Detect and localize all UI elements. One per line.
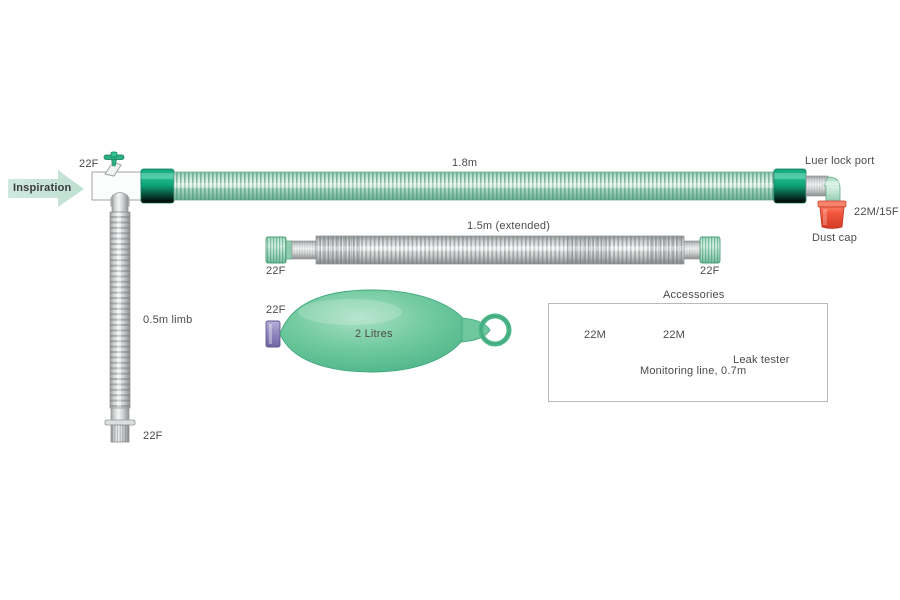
limb-0-5m (105, 193, 135, 443)
monitoring-line-label: Monitoring line, 0.7m (640, 365, 746, 377)
main-tube-length-label: 1.8m (452, 157, 477, 169)
bag-neck-size-label: 22F (266, 304, 286, 316)
extendable-tube-left-size-label: 22F (266, 265, 286, 277)
diagram-canvas: Inspiration 22F 1.8m Luer lock port 22M/… (0, 0, 900, 600)
monitoring-port-cap (104, 152, 124, 166)
accessories-box (548, 303, 828, 402)
connector-right-size-label: 22M (663, 329, 685, 341)
dust-cap-size-label: 22M/15F (854, 206, 899, 218)
ypiece-port-size-label: 22F (79, 158, 99, 170)
dust-cap (818, 201, 846, 229)
luer-lock-port-label: Luer lock port (805, 155, 874, 167)
extendable-tube-1-5m (266, 236, 720, 264)
accessories-title: Accessories (663, 289, 725, 301)
circuit-illustration (0, 0, 900, 600)
inspiration-label: Inspiration (13, 182, 71, 194)
limb-end-size-label: 22F (143, 430, 163, 442)
luer-lock-connector (806, 176, 828, 196)
main-tube-left-cuff (141, 169, 174, 203)
dust-cap-label: Dust cap (812, 232, 857, 244)
extendable-tube-right-size-label: 22F (700, 265, 720, 277)
main-tube-right-cuff (774, 169, 806, 203)
main-tube-1-8m (174, 172, 774, 200)
connector-left-size-label: 22M (584, 329, 606, 341)
limb-length-label: 0.5m limb (143, 314, 192, 326)
bag-volume-label: 2 Litres (355, 328, 393, 340)
extendable-tube-length-label: 1.5m (extended) (467, 220, 550, 232)
